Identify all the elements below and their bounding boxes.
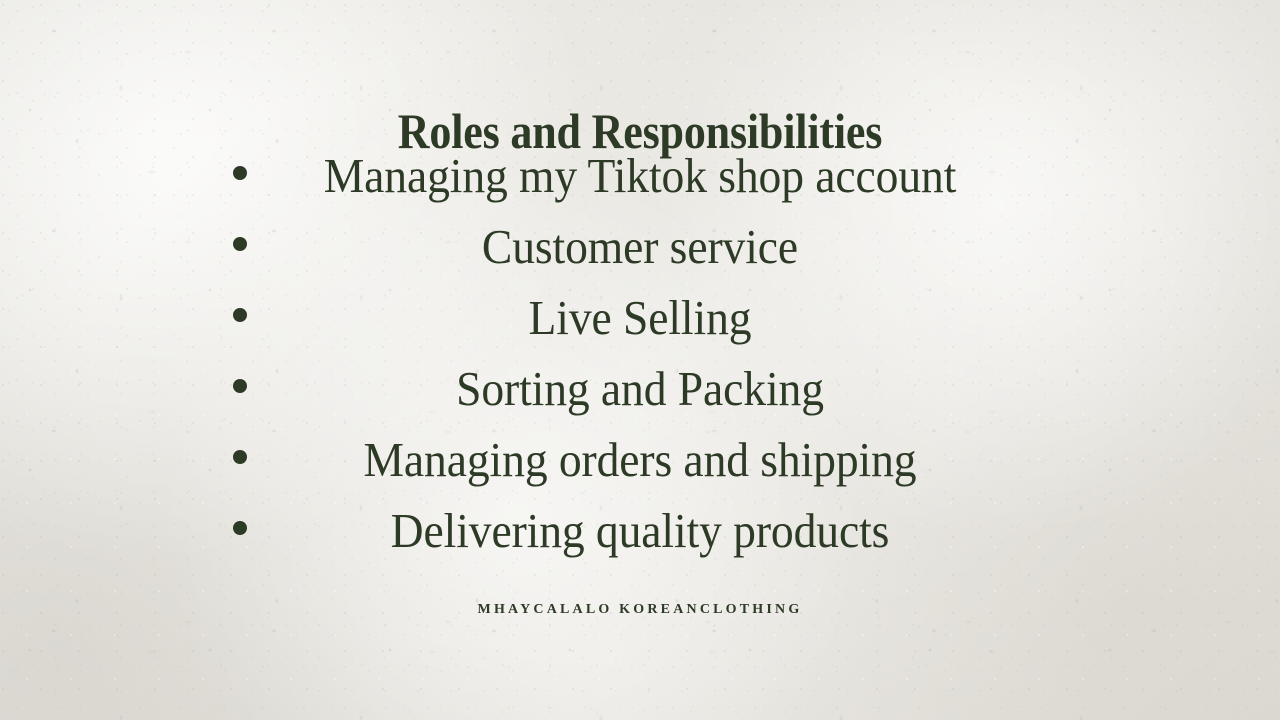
responsibilities-list: Managing my Tiktok shop account Customer… <box>0 142 1280 568</box>
list-item: Customer service <box>0 213 1280 284</box>
list-item: Sorting and Packing <box>0 355 1280 426</box>
slide-canvas: Roles and Responsibilities Managing my T… <box>0 0 1280 720</box>
list-item: Managing orders and shipping <box>0 426 1280 497</box>
list-item: Managing my Tiktok shop account <box>0 142 1280 213</box>
list-item-label: Managing orders and shipping <box>45 426 1235 494</box>
list-item: Delivering quality products <box>0 497 1280 568</box>
list-item-label: Managing my Tiktok shop account <box>45 142 1235 210</box>
list-item-label: Sorting and Packing <box>45 355 1235 423</box>
list-item-label: Customer service <box>45 213 1235 281</box>
slide-content: Roles and Responsibilities Managing my T… <box>0 0 1280 720</box>
list-item: Live Selling <box>0 284 1280 355</box>
list-item-label: Delivering quality products <box>45 497 1235 565</box>
footer-brand-credit: MHAYCALALO KOREANCLOTHING <box>0 601 1280 619</box>
list-item-label: Live Selling <box>45 284 1235 352</box>
